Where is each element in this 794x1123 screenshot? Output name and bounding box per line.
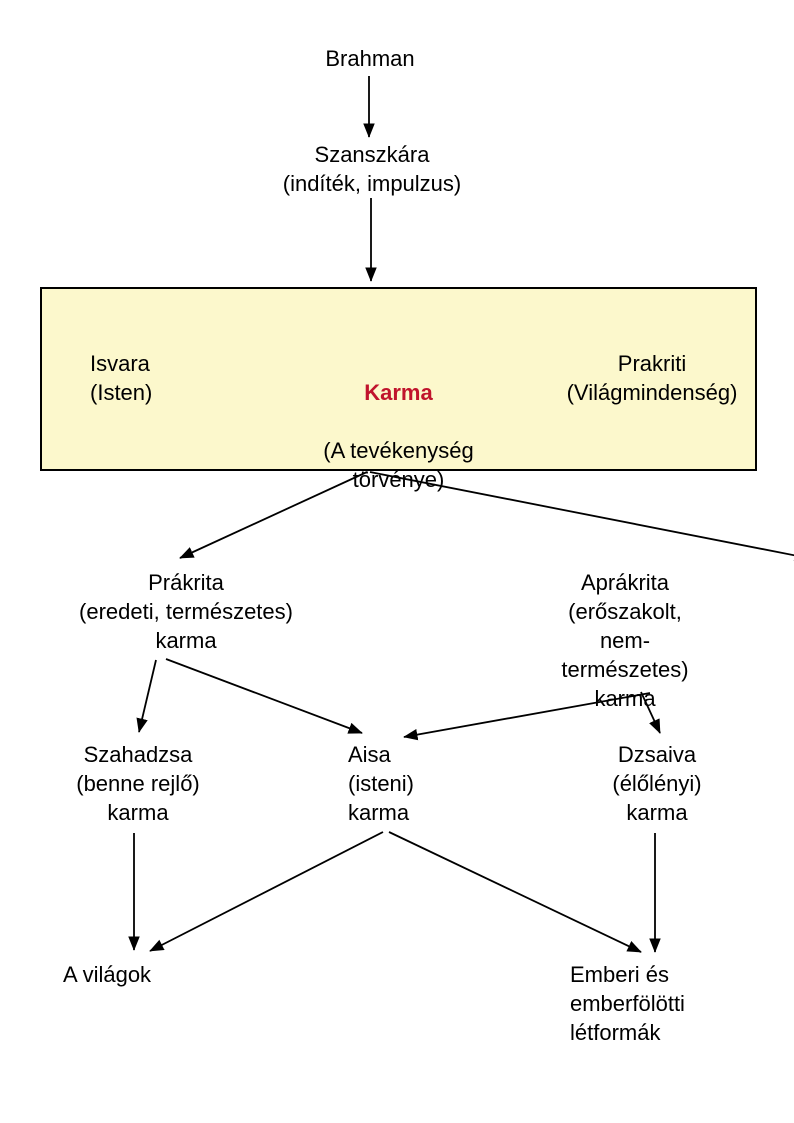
node-szahadzsa: Szahadzsa (benne rejlő) karma: [76, 740, 200, 827]
node-szanszkara: Szanszkára (indíték, impulzus): [283, 140, 462, 198]
node-aisa: Aisa (isteni) karma: [348, 740, 414, 827]
karma-subtitle: (A tevékenység törvénye): [323, 438, 473, 492]
edge-aisa-vilagok: [150, 832, 383, 951]
edge-aisa-emberi: [389, 832, 641, 952]
node-vilagok: A világok: [63, 960, 151, 989]
karma-diagram: Brahman Szanszkára (indíték, impulzus) I…: [0, 0, 794, 1123]
node-brahman: Brahman: [325, 44, 414, 73]
node-dzsaiva: Dzsaiva (élőlényi) karma: [612, 740, 701, 827]
karma-box: Isvara (Isten) Karma (A tevékenység törv…: [40, 287, 757, 471]
edge-prakrita-aisa: [166, 659, 362, 733]
edge-prakrita-szahadzsa: [139, 660, 156, 732]
node-karma: Karma (A tevékenység törvénye): [239, 349, 559, 494]
node-emberi: Emberi és emberfölötti létformák: [570, 960, 685, 1047]
node-prakrita: Prákrita (eredeti, természetes) karma: [79, 568, 293, 655]
node-aprakrita: Aprákrita (erőszakolt, nem-természetes) …: [541, 568, 710, 713]
node-isvara: Isvara (Isten): [90, 349, 152, 407]
node-prakriti: Prakriti (Világmindenség): [547, 349, 757, 407]
karma-title: Karma: [239, 378, 559, 407]
